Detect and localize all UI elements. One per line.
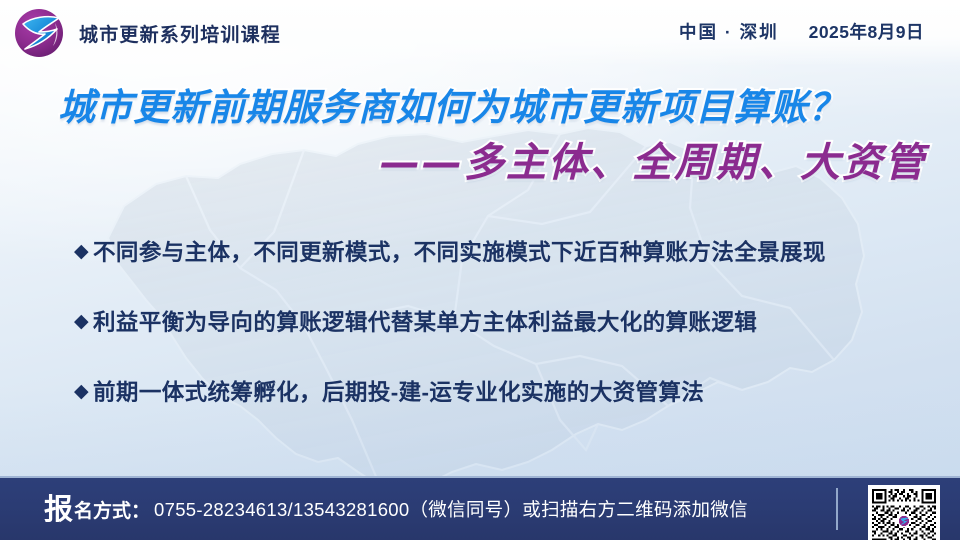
footer-contact-text: 0755-28234613/13543281600（微信同号）或扫描右方二维码添…	[154, 496, 748, 522]
diamond-bullet-icon: ◆	[74, 312, 89, 331]
brand-title: 城市更新系列培训课程	[79, 20, 281, 47]
title-line-2: ——多主体、全周期、大资管	[0, 138, 926, 188]
list-item-text: 不同参与主体，不同更新模式，不同实施模式下近百种算账方法全景展现	[93, 235, 826, 267]
title-line-1: 城市更新前期服务商如何为城市更新项目算账？	[58, 84, 960, 132]
list-item: ◆ 不同参与主体，不同更新模式，不同实施模式下近百种算账方法全景展现	[74, 234, 944, 268]
page-title: 城市更新前期服务商如何为城市更新项目算账？ ——多主体、全周期、大资管	[0, 84, 960, 188]
poster-canvas: 城市更新系列培训课程 中国 · 深圳 2025年8月9日 城市更新前期服务商如何…	[0, 0, 960, 540]
header-date: 2025年8月9日	[809, 19, 924, 44]
header-location: 中国 · 深圳	[679, 19, 779, 44]
diamond-bullet-icon: ◆	[74, 242, 89, 261]
footer-divider	[836, 488, 838, 530]
footer-bar: 报 名方式： 0755-28234613/13543281600（微信同号）或扫…	[0, 476, 960, 540]
bullet-list: ◆ 不同参与主体，不同更新模式，不同实施模式下近百种算账方法全景展现 ◆ 利益平…	[74, 234, 944, 444]
zl-circle-logo-icon	[12, 5, 68, 61]
diamond-bullet-icon: ◆	[74, 382, 89, 401]
list-item: ◆ 利益平衡为导向的算账逻辑代替某单方主体利益最大化的算账逻辑	[74, 304, 944, 338]
brand-block: 城市更新系列培训课程	[12, 5, 281, 61]
list-item-text: 利益平衡为导向的算账逻辑代替某单方主体利益最大化的算账逻辑	[93, 305, 757, 337]
header-meta: 中国 · 深圳 2025年8月9日	[679, 19, 924, 44]
list-item-text: 前期一体式统筹孵化，后期投-建-运专业化实施的大资管算法	[93, 375, 704, 407]
footer-label-emphasis: 报	[44, 496, 73, 525]
header-bar: 城市更新系列培训课程 中国 · 深圳 2025年8月9日	[0, 0, 960, 66]
list-item: ◆ 前期一体式统筹孵化，后期投-建-运专业化实施的大资管算法	[74, 374, 944, 408]
qr-code-icon[interactable]	[868, 485, 940, 540]
registration-info: 报 名方式： 0755-28234613/13543281600（微信同号）或扫…	[44, 478, 748, 540]
footer-label-rest: 名方式：	[74, 496, 150, 523]
